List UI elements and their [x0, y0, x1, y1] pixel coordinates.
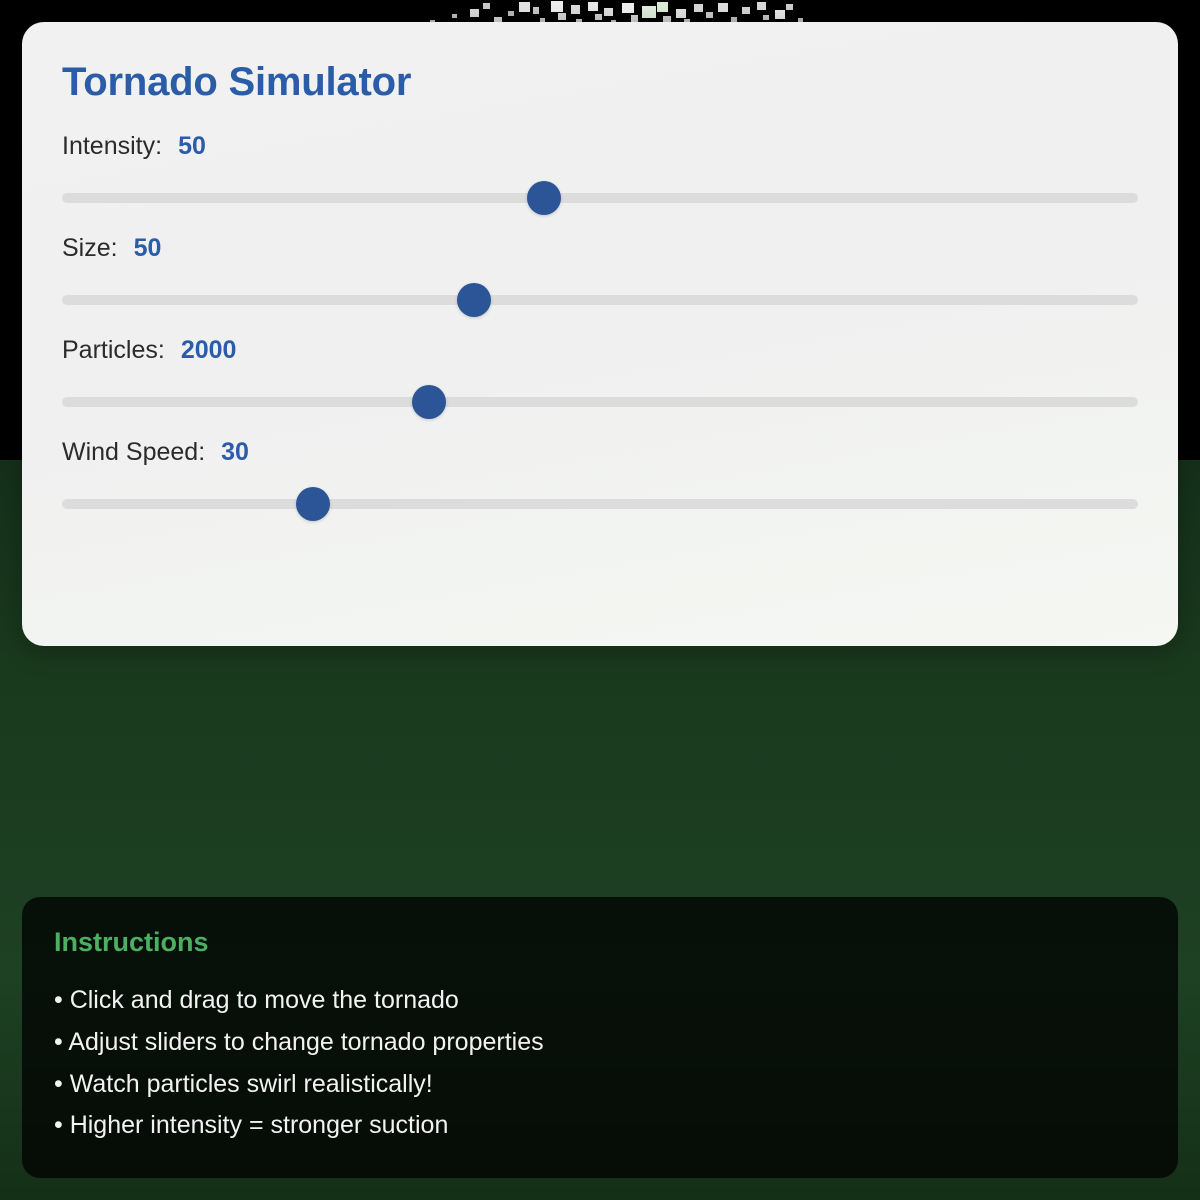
control-panel-card: Tornado Simulator Intensity: 50 Size: 50: [22, 22, 1178, 646]
slider-particles[interactable]: [62, 384, 1138, 420]
slider-thumb-intensity[interactable]: [527, 181, 561, 215]
instructions-panel: Instructions • Click and drag to move th…: [22, 897, 1178, 1178]
slider-label-particles: Particles:: [62, 336, 165, 365]
instruction-item: • Adjust sliders to change tornado prope…: [54, 1022, 1146, 1064]
slider-header-size: Size: 50: [62, 234, 1138, 268]
slider-group-wind-speed: Wind Speed: 30: [62, 438, 1138, 522]
instruction-item: • Higher intensity = stronger suction: [54, 1105, 1146, 1147]
slider-value-particles: 2000: [181, 336, 237, 365]
slider-header-particles: Particles: 2000: [62, 336, 1138, 370]
slider-size[interactable]: [62, 282, 1138, 318]
simulation-scene[interactable]: Tornado Simulator Intensity: 50 Size: 50: [0, 0, 1200, 1200]
slider-label-intensity: Intensity:: [62, 132, 162, 161]
slider-group-particles: Particles: 2000: [62, 336, 1138, 420]
slider-track-wind-speed[interactable]: [62, 499, 1138, 509]
slider-value-size: 50: [134, 234, 162, 263]
slider-wind-speed[interactable]: [62, 486, 1138, 522]
slider-intensity[interactable]: [62, 180, 1138, 216]
instruction-item: • Click and drag to move the tornado: [54, 980, 1146, 1022]
slider-label-size: Size:: [62, 234, 118, 263]
slider-group-size: Size: 50: [62, 234, 1138, 318]
slider-header-wind-speed: Wind Speed: 30: [62, 438, 1138, 472]
slider-thumb-particles[interactable]: [412, 385, 446, 419]
slider-track-intensity[interactable]: [62, 193, 1138, 203]
page-title: Tornado Simulator: [62, 60, 1138, 104]
slider-value-intensity: 50: [178, 132, 206, 161]
slider-thumb-wind-speed[interactable]: [296, 487, 330, 521]
slider-track-particles[interactable]: [62, 397, 1138, 407]
slider-header-intensity: Intensity: 50: [62, 132, 1138, 166]
instruction-item: • Watch particles swirl realistically!: [54, 1064, 1146, 1106]
slider-label-wind-speed: Wind Speed:: [62, 438, 205, 467]
slider-track-size[interactable]: [62, 295, 1138, 305]
instructions-title: Instructions: [54, 927, 1146, 958]
slider-value-wind-speed: 30: [221, 438, 249, 467]
slider-thumb-size[interactable]: [457, 283, 491, 317]
slider-group-intensity: Intensity: 50: [62, 132, 1138, 216]
